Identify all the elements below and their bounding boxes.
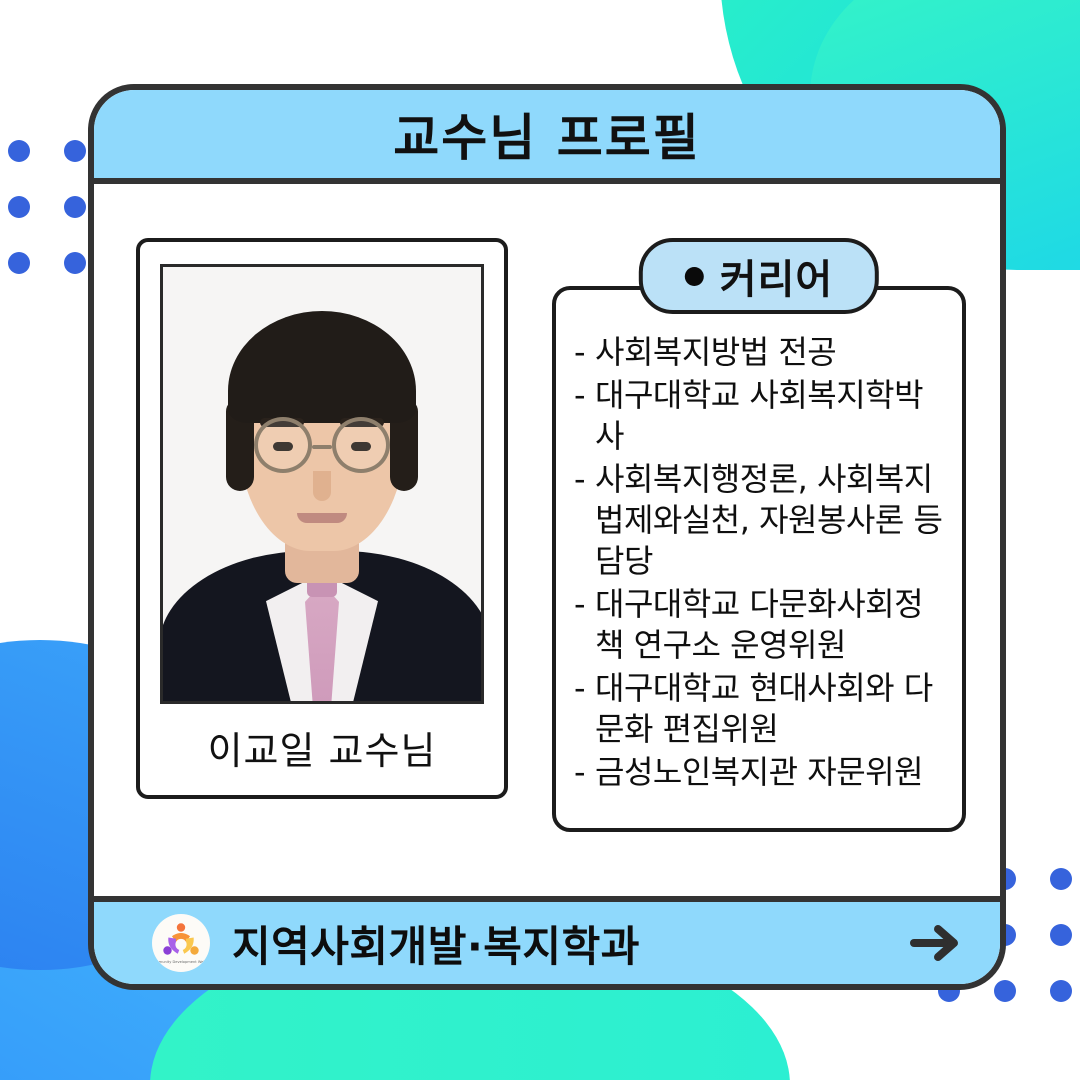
dash-marker: - — [574, 332, 585, 373]
career-item-text: 대구대학교 현대사회와 다문화 편집위원 — [595, 668, 948, 750]
professor-photo — [160, 264, 484, 704]
career-badge-label: 커리어 — [720, 247, 833, 305]
career-item-text: 금성노인복지관 자문위원 — [595, 752, 948, 793]
dot — [1050, 924, 1072, 946]
dot — [64, 140, 86, 162]
dash-marker: - — [574, 752, 585, 793]
career-item-text: 대구대학교 다문화사회정책 연구소 운영위원 — [595, 584, 948, 666]
card-header: 교수님 프로필 — [94, 90, 1000, 184]
dot — [1050, 980, 1072, 1002]
career-item-text: 사회복지방법 전공 — [595, 332, 948, 373]
career-item-text: 사회복지행정론, 사회복지 법제와실천, 자원봉사론 등 담당 — [595, 459, 948, 582]
dash-marker: - — [574, 459, 585, 500]
card-footer: Community Development Welfare 지역사회개발·복지학… — [94, 896, 1000, 984]
dot — [8, 252, 30, 274]
professor-name: 이교일 교수님 — [208, 704, 437, 785]
career-box: - 사회복지방법 전공 - 대구대학교 사회복지학박사 - 사회복지행정론, 사… — [552, 286, 966, 832]
department-name: 지역사회개발·복지학과 — [232, 913, 886, 974]
dot — [64, 196, 86, 218]
career-badge: 커리어 — [639, 238, 879, 314]
logo-caption: Community Development Welfare — [154, 960, 208, 964]
dot — [64, 252, 86, 274]
community-development-welfare-logo-icon: Community Development Welfare — [152, 914, 210, 972]
glasses-icon-right — [332, 417, 390, 473]
list-item: - 금성노인복지관 자문위원 — [574, 752, 948, 793]
arrow-right-icon[interactable] — [908, 922, 964, 964]
dot — [8, 140, 30, 162]
dot — [8, 196, 30, 218]
dash-marker: - — [574, 584, 585, 625]
photo-panel: 이교일 교수님 — [136, 238, 508, 799]
list-item: - 대구대학교 다문화사회정책 연구소 운영위원 — [574, 584, 948, 666]
dash-marker: - — [574, 668, 585, 709]
photo-nose — [313, 471, 331, 501]
card-body: 이교일 교수님 커리어 - 사회복지방법 전공 - — [94, 184, 1000, 896]
career-section: 커리어 - 사회복지방법 전공 - 대구대학교 사회복지학박사 - — [552, 238, 966, 832]
photo-mouth — [297, 513, 347, 523]
glasses-bridge — [312, 445, 332, 449]
list-item: - 대구대학교 사회복지학박사 — [574, 375, 948, 457]
career-item-text: 대구대학교 사회복지학박사 — [595, 375, 948, 457]
dot — [994, 980, 1016, 1002]
list-item: - 대구대학교 현대사회와 다문화 편집위원 — [574, 668, 948, 750]
dot — [1050, 868, 1072, 890]
glasses-icon-left — [254, 417, 312, 473]
dash-marker: - — [574, 375, 585, 416]
list-item: - 사회복지방법 전공 — [574, 332, 948, 373]
profile-card: 교수님 프로필 — [88, 84, 1006, 990]
page-title: 교수님 프로필 — [393, 98, 700, 170]
poster-canvas: 교수님 프로필 — [0, 0, 1080, 1080]
list-item: - 사회복지행정론, 사회복지 법제와실천, 자원봉사론 등 담당 — [574, 459, 948, 582]
bullet-dot-icon — [685, 267, 704, 286]
career-list: - 사회복지방법 전공 - 대구대학교 사회복지학박사 - 사회복지행정론, 사… — [574, 332, 948, 792]
